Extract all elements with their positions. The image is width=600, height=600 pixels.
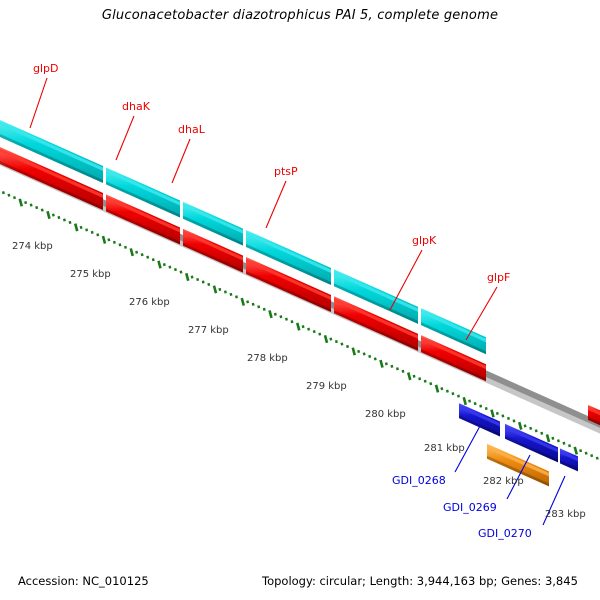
ruler-major-tick <box>436 385 438 393</box>
ruler-major-tick <box>214 286 216 294</box>
ruler-minor-tick <box>569 444 570 447</box>
ruler-minor-tick <box>253 303 254 306</box>
ruler-minor-tick <box>125 246 126 249</box>
ruler-major-tick <box>131 248 133 256</box>
ruler-minor-tick <box>475 402 476 405</box>
ruler-minor-tick <box>42 209 43 212</box>
ruler-minor-tick <box>508 417 509 420</box>
axis-tick-label: 279 kbp <box>306 381 347 392</box>
coordinate-ruler <box>0 186 600 466</box>
ruler-minor-tick <box>358 350 359 353</box>
ruler-minor-tick <box>430 382 431 385</box>
ruler-major-tick <box>242 298 244 306</box>
ruler-minor-tick <box>220 288 221 291</box>
gene-label-ptsP[interactable]: ptsP <box>274 165 298 178</box>
genome-map-canvas <box>0 0 600 600</box>
ruler-minor-tick <box>419 377 420 380</box>
ruler-minor-tick <box>92 231 93 234</box>
ruler-minor-tick <box>181 271 182 274</box>
ruler-minor-tick <box>192 276 193 279</box>
ruler-minor-tick <box>203 281 204 284</box>
ruler-major-tick <box>381 360 383 368</box>
ruler-minor-tick <box>386 363 387 366</box>
ruler-minor-tick <box>375 358 376 361</box>
genome-stats-text: Topology: circular; Length: 3,944,163 bp… <box>262 574 578 588</box>
ruler-minor-tick <box>70 221 71 224</box>
ruler-major-tick <box>48 211 50 219</box>
ruler-minor-tick <box>175 268 176 271</box>
ruler-minor-tick <box>164 263 165 266</box>
ruler-minor-tick <box>136 251 137 254</box>
ruler-minor-tick <box>536 430 537 433</box>
ruler-major-tick <box>575 447 577 455</box>
genome-map-viewer: Gluconacetobacter diazotrophicus PAI 5, … <box>0 0 600 600</box>
ruler-minor-tick <box>580 449 581 452</box>
axis-tick-label: 275 kbp <box>70 269 111 280</box>
gene-label-leader-line <box>172 139 190 183</box>
locus-label-GDI_0270[interactable]: GDI_0270 <box>478 527 532 540</box>
gene-label-leader-line <box>30 78 47 128</box>
ruler-minor-tick <box>31 204 32 207</box>
ruler-minor-tick <box>264 308 265 311</box>
ruler-minor-tick <box>236 296 237 299</box>
ruler-minor-tick <box>170 266 171 269</box>
ruler-minor-tick <box>558 439 559 442</box>
ruler-minor-tick <box>369 355 370 358</box>
ruler-minor-tick <box>553 437 554 440</box>
axis-tick-label: 281 kbp <box>424 443 465 454</box>
ruler-minor-tick <box>342 343 343 346</box>
ruler-minor-tick <box>447 390 448 393</box>
ruler-minor-tick <box>453 392 454 395</box>
ruler-minor-tick <box>247 301 248 304</box>
locus-label-GDI_0268[interactable]: GDI_0268 <box>392 474 446 487</box>
ruler-minor-tick <box>541 432 542 435</box>
ruler-minor-tick <box>275 313 276 316</box>
ruler-minor-tick <box>97 234 98 237</box>
ruler-major-tick <box>75 224 77 232</box>
ruler-major-tick <box>325 335 327 343</box>
ruler-minor-tick <box>336 340 337 343</box>
ruler-minor-tick <box>397 368 398 371</box>
ruler-minor-tick <box>564 442 565 445</box>
ruler-minor-tick <box>86 229 87 232</box>
ruler-minor-tick <box>197 278 198 281</box>
ruler-minor-tick <box>486 407 487 410</box>
ruler-minor-tick <box>292 320 293 323</box>
gene-label-leader-line <box>266 181 286 228</box>
ruler-minor-tick <box>497 412 498 415</box>
ruler-minor-tick <box>347 345 348 348</box>
reverse-strand-track <box>0 147 486 381</box>
ruler-minor-tick <box>258 306 259 309</box>
ruler-minor-tick <box>514 420 515 423</box>
ruler-minor-tick <box>114 241 115 244</box>
ruler-minor-tick <box>308 328 309 331</box>
ruler-minor-tick <box>480 405 481 408</box>
ruler-minor-tick <box>109 239 110 242</box>
ruler-minor-tick <box>53 214 54 217</box>
axis-tick-label: 282 kbp <box>483 476 524 487</box>
ruler-minor-tick <box>225 291 226 294</box>
ruler-major-tick <box>408 372 410 380</box>
ruler-major-tick <box>519 422 521 430</box>
gene-label-leader-line <box>466 287 497 340</box>
ruler-minor-tick <box>319 333 320 336</box>
ruler-major-tick <box>464 397 466 405</box>
axis-tick-label: 280 kbp <box>365 409 406 420</box>
axis-tick-label: 278 kbp <box>247 353 288 364</box>
gene-label-leader-line <box>390 250 422 310</box>
ruler-minor-tick <box>597 457 598 460</box>
ruler-minor-tick <box>525 425 526 428</box>
ruler-minor-tick <box>469 400 470 403</box>
ruler-major-tick <box>186 273 188 281</box>
gene-label-dhaK[interactable]: dhaK <box>122 100 150 113</box>
ruler-major-tick <box>547 435 549 443</box>
ruler-minor-tick <box>392 365 393 368</box>
axis-tick-label: 276 kbp <box>129 297 170 308</box>
locus-feature-GDI_0268[interactable] <box>459 403 500 436</box>
ruler-major-tick <box>353 348 355 356</box>
ruler-major-tick <box>270 310 272 318</box>
gene-label-glpF[interactable]: glpF <box>487 271 510 284</box>
ruler-minor-tick <box>25 201 26 204</box>
ruler-minor-tick <box>530 427 531 430</box>
ruler-minor-tick <box>586 452 587 455</box>
ruler-minor-tick <box>3 191 4 194</box>
ruler-minor-tick <box>414 375 415 378</box>
ruler-minor-tick <box>591 454 592 457</box>
ruler-minor-tick <box>503 415 504 418</box>
ruler-minor-tick <box>231 293 232 296</box>
ruler-minor-tick <box>286 318 287 321</box>
ruler-minor-tick <box>9 194 10 197</box>
ruler-major-tick <box>492 410 494 418</box>
ruler-minor-tick <box>142 253 143 256</box>
locus-label-GDI_0269[interactable]: GDI_0269 <box>443 501 497 514</box>
ruler-minor-tick <box>147 256 148 259</box>
gene-label-dhaL[interactable]: dhaL <box>178 123 205 136</box>
ruler-major-tick <box>103 236 105 244</box>
ruler-minor-tick <box>14 196 15 199</box>
ruler-minor-tick <box>64 219 65 222</box>
ruler-minor-tick <box>442 387 443 390</box>
ruler-minor-tick <box>120 243 121 246</box>
ruler-minor-tick <box>364 353 365 356</box>
ruler-major-tick <box>159 261 161 269</box>
ruler-minor-tick <box>458 395 459 398</box>
ruler-minor-tick <box>59 216 60 219</box>
ruler-minor-tick <box>425 380 426 383</box>
gene-label-leader-line <box>116 116 134 160</box>
accession-text: Accession: NC_010125 <box>18 574 149 588</box>
ruler-minor-tick <box>303 325 304 328</box>
ruler-minor-tick <box>81 226 82 229</box>
ruler-minor-tick <box>153 258 154 261</box>
ruler-minor-tick <box>403 370 404 373</box>
ruler-minor-tick <box>314 330 315 333</box>
gene-label-glpK[interactable]: glpK <box>412 234 436 247</box>
ruler-major-tick <box>297 323 299 331</box>
axis-tick-label: 283 kbp <box>545 509 586 520</box>
ruler-major-tick <box>20 199 22 207</box>
axis-tick-label: 274 kbp <box>12 241 53 252</box>
ruler-minor-tick <box>331 338 332 341</box>
ruler-minor-tick <box>208 283 209 286</box>
axis-tick-label: 277 kbp <box>188 325 229 336</box>
ruler-minor-tick <box>281 315 282 318</box>
ruler-minor-tick <box>36 206 37 209</box>
gene-label-glpD[interactable]: glpD <box>33 62 59 75</box>
